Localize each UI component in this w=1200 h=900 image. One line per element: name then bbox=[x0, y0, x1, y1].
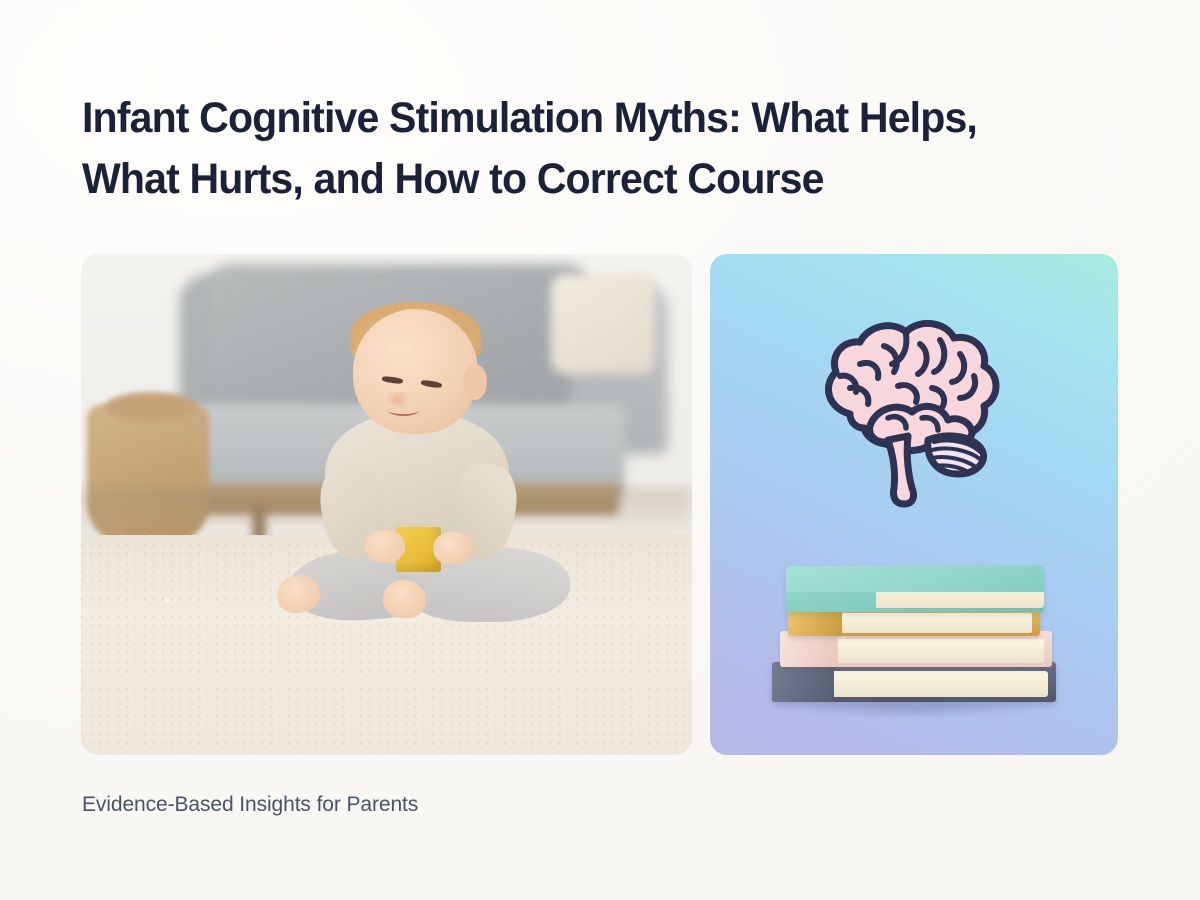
book-bottom-spine bbox=[772, 662, 834, 702]
wicker-basket-rim bbox=[105, 392, 197, 422]
baby-head bbox=[353, 309, 478, 434]
book-stack bbox=[764, 550, 1064, 720]
book-third-spine bbox=[780, 631, 838, 667]
brain-svg bbox=[788, 302, 1040, 512]
book-third-pages bbox=[830, 639, 1044, 663]
book-bottom-pages bbox=[824, 671, 1048, 697]
photo-scene bbox=[81, 254, 692, 755]
infant-playing-with-wooden-blocks-photo bbox=[81, 254, 692, 755]
baby-hand-left bbox=[365, 530, 405, 563]
book-stack-shadow bbox=[776, 700, 1052, 716]
book-top-cover-face bbox=[786, 566, 1044, 592]
baby-hand-right bbox=[433, 532, 473, 565]
page-title: Infant Cognitive Stimulation Myths: What… bbox=[82, 88, 1094, 210]
subtitle: Evidence-Based Insights for Parents bbox=[82, 793, 418, 817]
brain-icon bbox=[788, 302, 1040, 512]
slide-canvas: Infant Cognitive Stimulation Myths: What… bbox=[0, 0, 1200, 900]
book-second-pages bbox=[836, 613, 1032, 633]
brain-and-books-illustration bbox=[710, 254, 1118, 755]
media-row bbox=[81, 254, 1118, 755]
sofa-pillow bbox=[551, 274, 655, 374]
title-block: Infant Cognitive Stimulation Myths: What… bbox=[82, 88, 1142, 210]
